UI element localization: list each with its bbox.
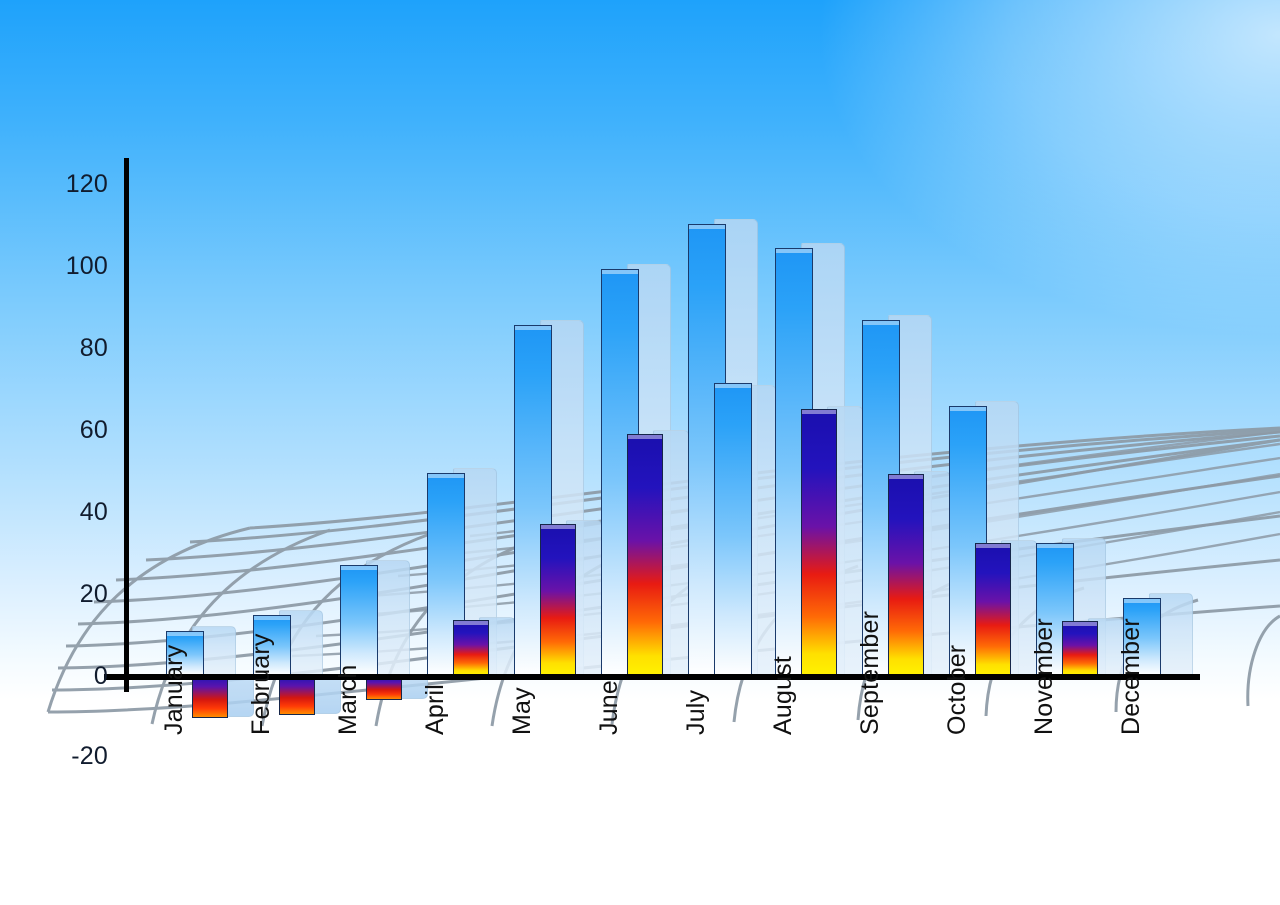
bar-cap bbox=[1063, 622, 1097, 626]
bar-cap bbox=[628, 435, 662, 439]
bar-july-series2[interactable] bbox=[714, 383, 752, 676]
y-tick-label-100: 100 bbox=[38, 252, 108, 281]
bar-june-series2[interactable] bbox=[627, 434, 663, 676]
x-label-april: April bbox=[421, 684, 450, 735]
bars-layer bbox=[0, 0, 1280, 905]
bar-september-series2[interactable] bbox=[888, 474, 924, 676]
y-tick-label--20: -20 bbox=[38, 742, 108, 771]
bar-cap bbox=[254, 616, 290, 620]
x-label-february: February bbox=[247, 633, 276, 735]
x-label-january: January bbox=[160, 645, 189, 735]
bar-march-series1[interactable] bbox=[340, 565, 378, 676]
bar-cap bbox=[776, 249, 812, 253]
chart-canvas: 120 100 80 60 40 20 0 -20 January Februa… bbox=[0, 0, 1280, 905]
y-tick-label-0: 0 bbox=[38, 662, 108, 691]
x-label-june: June bbox=[595, 680, 624, 735]
x-label-september: September bbox=[856, 611, 885, 735]
bar-may-series2[interactable] bbox=[540, 524, 576, 676]
bar-cap bbox=[541, 525, 575, 529]
bar-cap bbox=[515, 326, 551, 330]
y-tick-label-80: 80 bbox=[38, 334, 108, 363]
bar-cap bbox=[1037, 544, 1073, 548]
bar-november-series2[interactable] bbox=[1062, 621, 1098, 676]
bar-cap bbox=[1124, 599, 1160, 603]
y-tick-label-40: 40 bbox=[38, 498, 108, 527]
bar-october-series2[interactable] bbox=[975, 543, 1011, 676]
x-label-may: May bbox=[508, 687, 537, 735]
y-tick-label-20: 20 bbox=[38, 580, 108, 609]
y-tick-0 bbox=[113, 674, 139, 678]
bar-cap bbox=[976, 544, 1010, 548]
x-label-december: December bbox=[1117, 618, 1146, 735]
bar-cap bbox=[863, 321, 899, 325]
bar-cap bbox=[889, 475, 923, 479]
x-label-october: October bbox=[943, 645, 972, 735]
bar-august-series2[interactable] bbox=[801, 409, 837, 676]
bar-cap bbox=[689, 225, 725, 229]
bar-cap bbox=[341, 566, 377, 570]
bar-cap bbox=[454, 621, 488, 625]
bar-january-series2[interactable] bbox=[192, 677, 228, 718]
bar-march-series2[interactable] bbox=[366, 677, 402, 700]
y-tick-label-60: 60 bbox=[38, 416, 108, 445]
bar-cap bbox=[602, 270, 638, 274]
bar-february-series2[interactable] bbox=[279, 677, 315, 715]
bar-cap bbox=[802, 410, 836, 414]
y-axis-line bbox=[124, 158, 129, 692]
bar-cap bbox=[950, 407, 986, 411]
x-label-july: July bbox=[682, 690, 711, 735]
y-tick-label-120: 120 bbox=[38, 170, 108, 199]
bar-cap bbox=[715, 384, 751, 388]
x-label-august: August bbox=[769, 656, 798, 735]
x-label-march: March bbox=[334, 665, 363, 735]
x-label-november: November bbox=[1030, 618, 1059, 735]
bar-cap bbox=[428, 474, 464, 478]
bar-april-series2[interactable] bbox=[453, 620, 489, 676]
bar-cap bbox=[167, 632, 203, 636]
